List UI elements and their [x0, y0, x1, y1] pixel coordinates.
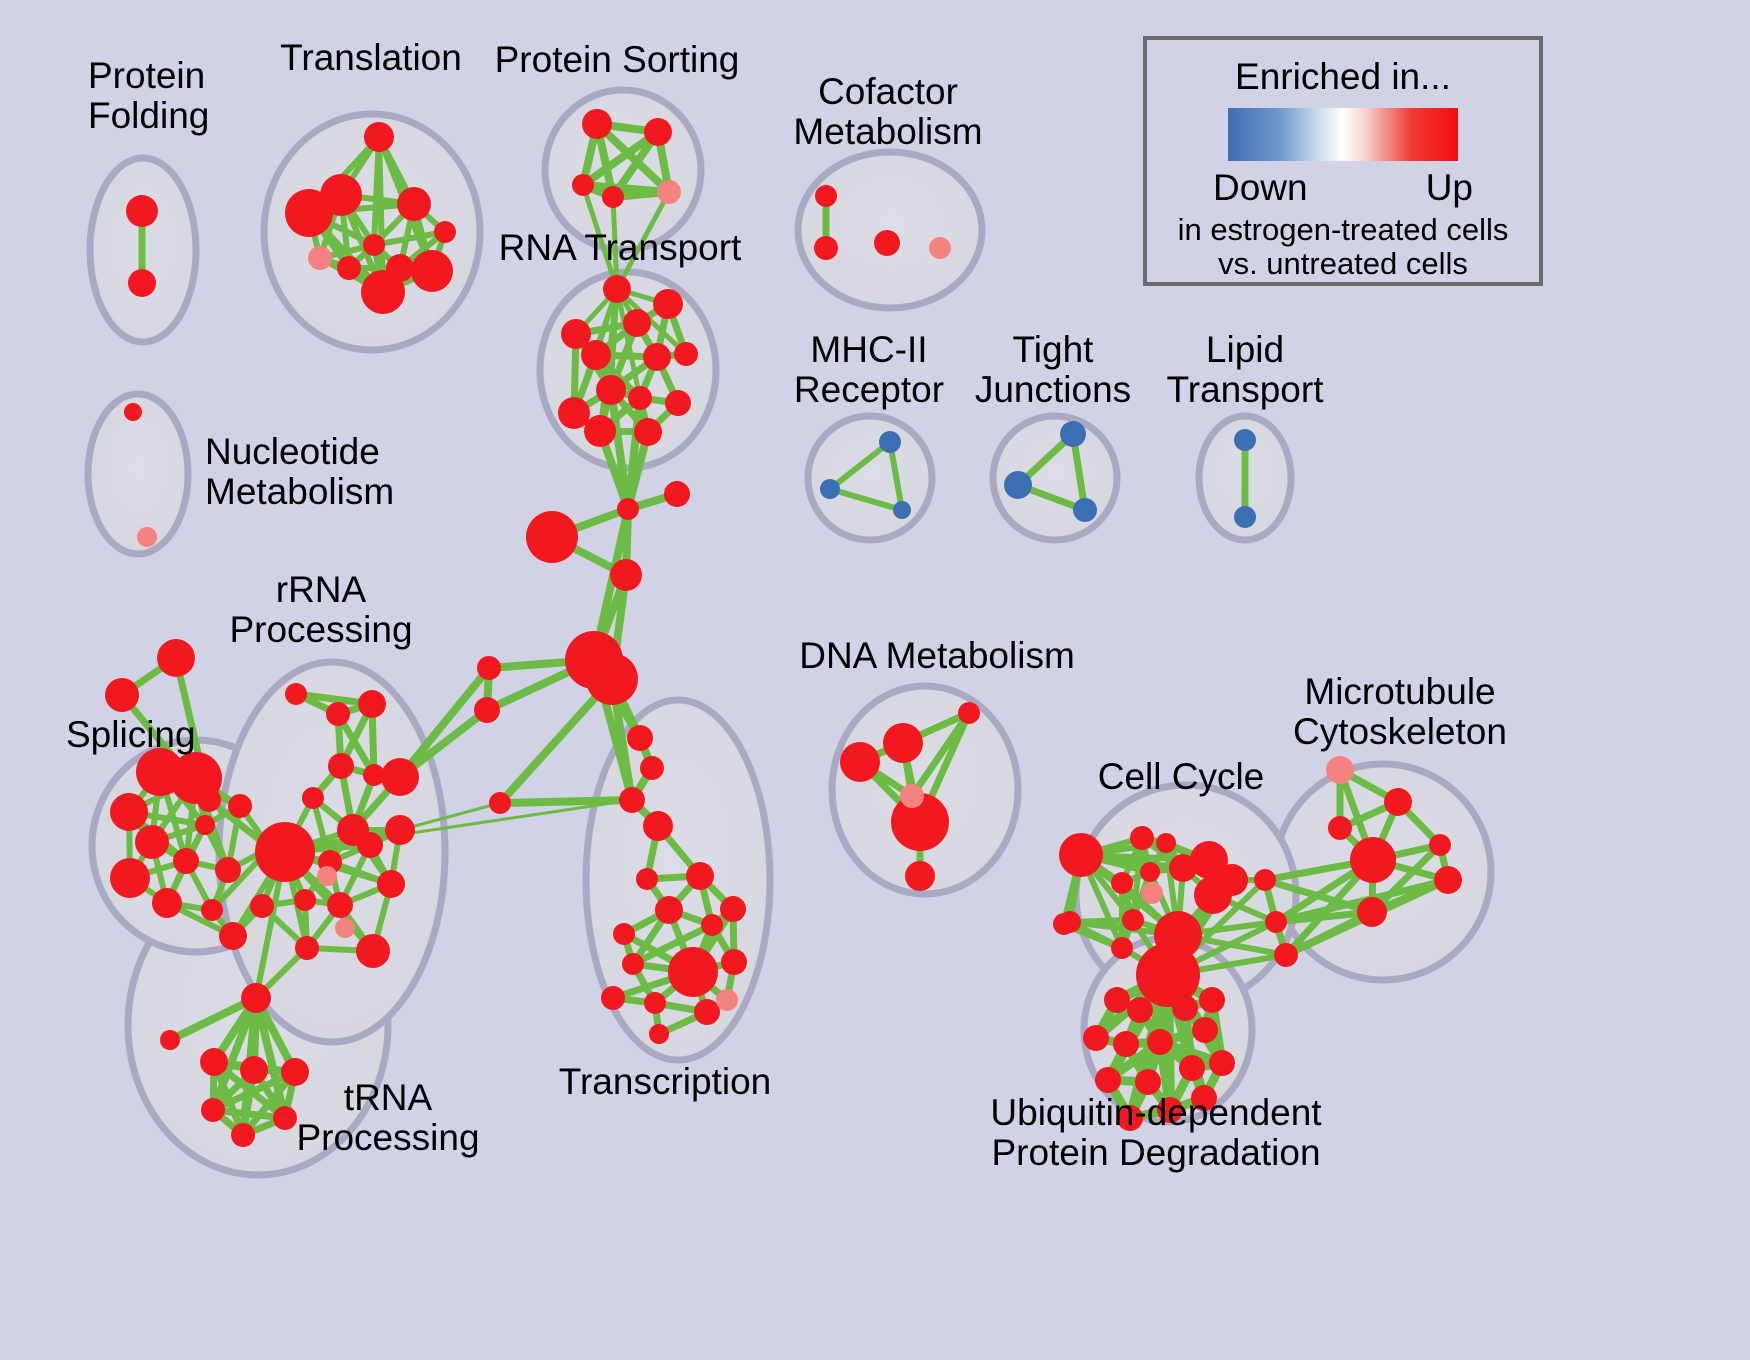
cluster-label-lipid-transport: Lipid Transport — [1167, 330, 1324, 409]
cluster-label-rna-transport: RNA Transport — [499, 228, 742, 268]
node — [357, 832, 383, 858]
node — [302, 787, 324, 809]
node — [644, 118, 672, 146]
node — [1434, 866, 1462, 894]
node — [601, 986, 625, 1010]
node — [840, 742, 880, 782]
cluster-label-nucleotide-metabolism: Nucleotide Metabolism — [205, 432, 394, 511]
node — [397, 187, 431, 221]
node — [240, 1056, 268, 1084]
node — [1073, 498, 1097, 522]
node — [381, 758, 419, 796]
node — [1111, 937, 1133, 959]
node — [636, 868, 658, 890]
node — [1113, 1031, 1139, 1057]
node — [385, 815, 415, 845]
cluster-hull-protein-sorting — [545, 90, 701, 250]
node — [1130, 826, 1154, 850]
node — [489, 792, 511, 814]
node — [664, 481, 690, 507]
cluster-label-tight-junctions: Tight Junctions — [975, 330, 1131, 409]
node — [572, 174, 594, 196]
node — [1111, 872, 1133, 894]
legend-panel: Enriched in... Down Up in estrogen-treat… — [1143, 36, 1543, 286]
node — [900, 784, 924, 808]
cluster-label-ubiquitin-protein-degradation: Ubiquitin-dependent Protein Degradation — [990, 1093, 1321, 1172]
node — [558, 397, 590, 429]
color-gradient-bar — [1228, 108, 1458, 161]
node — [1083, 1025, 1109, 1051]
cluster-label-transcription: Transcription — [559, 1062, 771, 1102]
cluster-label-trna-processing: tRNA Processing — [296, 1078, 479, 1157]
node — [1199, 987, 1225, 1013]
node — [474, 697, 500, 723]
node — [720, 896, 746, 922]
node — [285, 189, 333, 237]
node — [358, 690, 386, 718]
node — [1254, 869, 1276, 891]
node — [613, 923, 635, 945]
node — [328, 753, 354, 779]
node — [883, 723, 923, 763]
node — [335, 918, 355, 938]
node — [228, 794, 252, 818]
node — [643, 343, 671, 371]
cluster-label-dna-metabolism: DNA Metabolism — [799, 636, 1075, 676]
node — [1004, 471, 1032, 499]
cluster-label-protein-sorting: Protein Sorting — [495, 40, 740, 80]
node — [820, 479, 840, 499]
node — [250, 894, 274, 918]
node — [581, 340, 611, 370]
node — [317, 866, 337, 886]
node — [1429, 834, 1451, 856]
node — [716, 989, 738, 1011]
node — [160, 1030, 180, 1050]
node — [137, 527, 157, 547]
node — [623, 309, 651, 337]
cluster-label-microtubule-cytoskeleton: Microtubule Cytoskeleton — [1293, 672, 1507, 751]
node — [1095, 1067, 1121, 1093]
node — [364, 122, 394, 152]
node — [640, 756, 664, 780]
node — [1172, 995, 1198, 1021]
node — [124, 403, 142, 421]
node — [201, 1098, 225, 1122]
node — [686, 862, 714, 890]
node — [1122, 909, 1144, 931]
cluster-label-translation: Translation — [280, 38, 462, 78]
node — [1141, 882, 1163, 904]
node — [584, 415, 616, 447]
node — [273, 1106, 297, 1130]
node — [1234, 506, 1256, 528]
legend-low-label: Down — [1213, 167, 1308, 209]
node — [195, 815, 215, 835]
node — [231, 1123, 255, 1147]
node — [958, 702, 980, 724]
node — [241, 983, 271, 1013]
node — [219, 922, 247, 950]
node — [815, 185, 837, 207]
node — [879, 431, 901, 453]
node — [477, 656, 501, 680]
node — [929, 237, 951, 259]
node — [668, 947, 718, 997]
node — [1156, 833, 1176, 853]
node — [128, 269, 156, 297]
node — [259, 837, 281, 859]
node — [665, 390, 691, 416]
legend-caption-line1: in estrogen-treated cells — [1178, 213, 1509, 248]
node — [586, 653, 638, 705]
node — [874, 230, 900, 256]
node — [643, 811, 673, 841]
node — [1384, 788, 1412, 816]
node — [603, 275, 631, 303]
node — [617, 498, 639, 520]
node — [285, 683, 307, 705]
node — [295, 936, 319, 960]
node — [105, 678, 139, 712]
node — [655, 896, 683, 924]
node — [215, 857, 241, 883]
node — [308, 246, 332, 270]
node — [893, 501, 911, 519]
node — [627, 725, 653, 751]
node — [337, 256, 361, 280]
node — [1209, 1050, 1235, 1076]
node — [110, 793, 148, 831]
node — [674, 342, 698, 366]
node — [905, 861, 935, 891]
node — [1328, 816, 1352, 840]
node — [1192, 1017, 1218, 1043]
node — [694, 999, 720, 1025]
node — [1357, 897, 1387, 927]
node — [1127, 997, 1153, 1023]
node — [157, 639, 195, 677]
node — [377, 870, 405, 898]
node — [1140, 862, 1160, 882]
node — [173, 848, 199, 874]
node — [653, 289, 683, 319]
node — [701, 914, 723, 936]
cluster-label-protein-folding: Protein Folding — [88, 56, 209, 135]
node — [110, 858, 150, 898]
node — [170, 752, 222, 804]
node — [526, 511, 578, 563]
node — [1274, 943, 1298, 967]
node — [201, 899, 223, 921]
node — [649, 1024, 669, 1044]
node — [434, 221, 456, 243]
node — [1060, 421, 1086, 447]
node — [622, 953, 644, 975]
node — [582, 109, 612, 139]
cluster-hull-mhc-ii-receptor — [808, 416, 932, 540]
node — [602, 186, 624, 208]
cluster-label-cofactor-metabolism: Cofactor Metabolism — [793, 72, 982, 151]
node — [644, 992, 666, 1014]
cluster-label-rrna-processing: rRNA Processing — [229, 570, 412, 649]
node — [1059, 833, 1103, 877]
legend-high-label: Up — [1426, 167, 1473, 209]
node — [657, 180, 681, 204]
cluster-label-mhc-ii-receptor: MHC-II Receptor — [794, 330, 944, 409]
node — [610, 559, 642, 591]
node — [361, 270, 405, 314]
node — [1194, 876, 1232, 914]
node — [634, 418, 662, 446]
node — [1179, 1055, 1205, 1081]
cluster-label-splicing: Splicing — [66, 715, 196, 755]
node — [356, 934, 390, 968]
node — [596, 375, 626, 405]
node — [619, 787, 645, 813]
node — [152, 888, 182, 918]
node — [1350, 837, 1396, 883]
node — [1104, 987, 1130, 1013]
node — [1326, 756, 1354, 784]
node — [135, 825, 169, 859]
node — [126, 195, 158, 227]
node — [326, 702, 350, 726]
node — [814, 236, 838, 260]
node — [1147, 1029, 1173, 1055]
legend-caption-line2: vs. untreated cells — [1218, 247, 1468, 282]
node — [327, 892, 353, 918]
legend-endpoint-labels: Down Up — [1213, 167, 1473, 209]
cluster-label-cell-cycle: Cell Cycle — [1098, 757, 1265, 797]
node — [363, 234, 385, 256]
node — [200, 1048, 228, 1076]
node — [628, 386, 652, 410]
node — [721, 949, 747, 975]
legend-title: Enriched in... — [1235, 56, 1451, 98]
node — [294, 889, 316, 911]
node — [411, 250, 453, 292]
node — [1265, 911, 1287, 933]
node — [1053, 913, 1075, 935]
node — [1234, 429, 1256, 451]
enrichment-network-figure: Protein Folding Translation Protein Sort… — [0, 0, 1750, 1360]
